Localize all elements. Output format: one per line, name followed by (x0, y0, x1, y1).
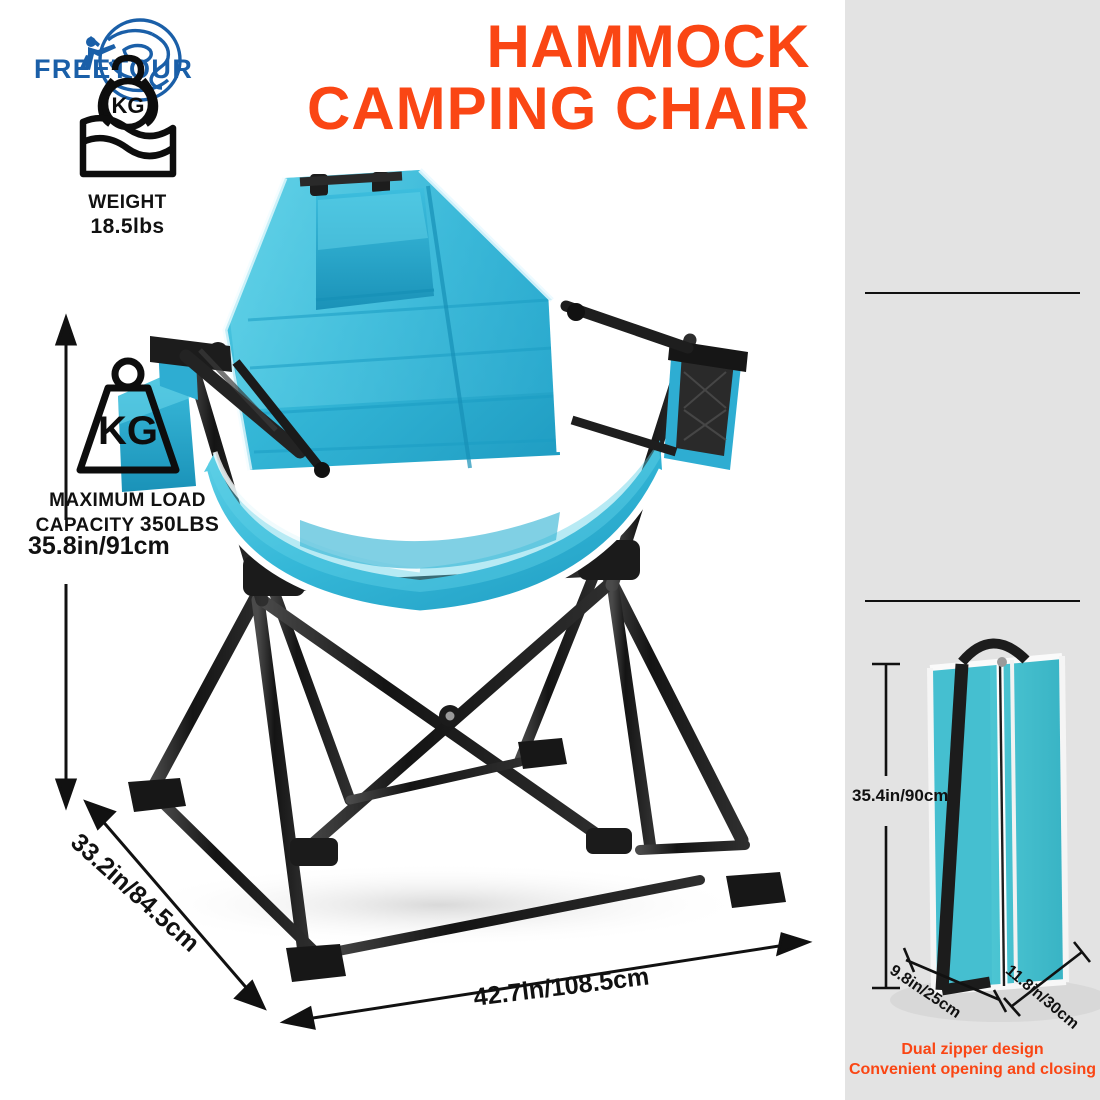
page-title: HAMMOCK CAMPING CHAIR (170, 16, 810, 140)
weight-value: 18.5lbs (0, 214, 255, 240)
title-line-2: CAMPING CHAIR (170, 78, 810, 140)
bag-height-label: 35.4in/90cm (852, 786, 948, 806)
capacity-prefix: CAPACITY (36, 515, 140, 536)
title-line-1: HAMMOCK (487, 13, 810, 80)
capacity-icon-kg-text: KG (98, 409, 158, 453)
dimension-depth-label: 33.2in/84.5cm (65, 828, 205, 958)
dimension-width-label: 42.7in/108.5cm (472, 962, 651, 1012)
weight-label: WEIGHT (0, 191, 255, 214)
infographic-canvas: FREETOUR HAMMOCK CAMPING CHAIR (0, 0, 1100, 1100)
spec-weight: KG WEIGHT 18.5lbs (0, 46, 255, 240)
kg-weight-icon: KG (64, 352, 192, 484)
panel-divider-1 (865, 292, 1080, 294)
spec-panel (845, 0, 1100, 1100)
weight-icon-kg-text: KG (111, 93, 144, 118)
capacity-value: 350LBS (140, 513, 219, 536)
bag-note-line-1: Dual zipper design (845, 1040, 1100, 1060)
panel-divider-2 (865, 600, 1080, 602)
bag-note: Dual zipper design Convenient opening an… (845, 1040, 1100, 1081)
capacity-label-line1: MAXIMUM LOAD (0, 489, 255, 512)
bag-note-line-2: Convenient opening and closing (845, 1060, 1100, 1080)
spec-capacity: KG MAXIMUM LOAD CAPACITY 350LBS (0, 352, 255, 538)
weight-on-cushion-icon: KG (69, 46, 187, 186)
capacity-label-line2: CAPACITY 350LBS (0, 512, 255, 538)
